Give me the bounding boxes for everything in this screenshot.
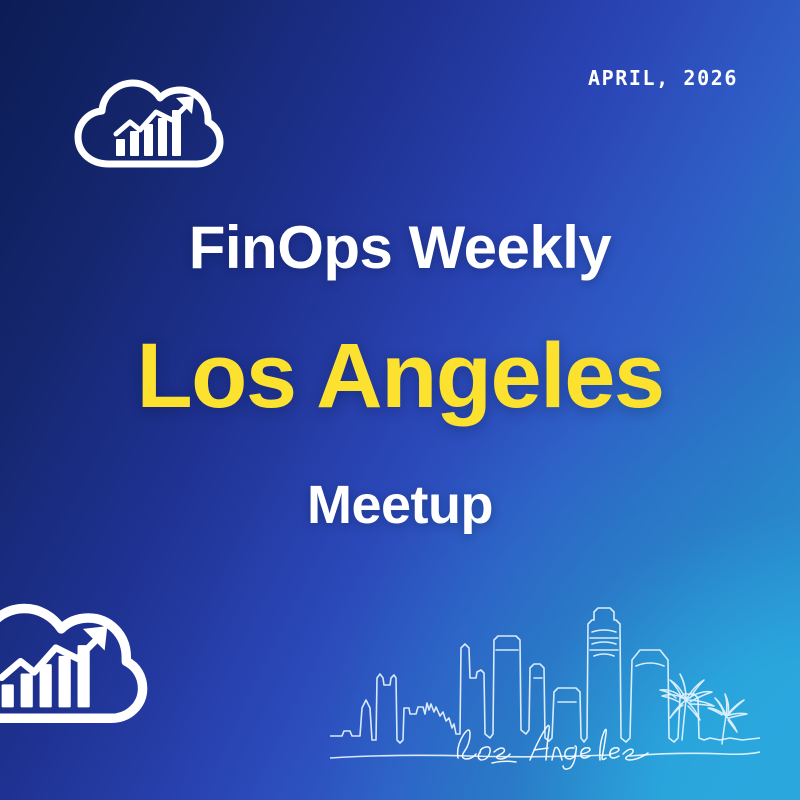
cloud-chart-icon [72,62,224,180]
event-poster: APRIL, 2026 FinOps Weekly Los Angeles Me… [0,0,800,800]
city-headline: Los Angeles [0,278,800,422]
cloud-chart-icon [0,580,148,740]
logo-top-cloud-chart [72,62,224,180]
los-angeles-script-icon [452,722,682,772]
event-type-subtitle: Meetup [0,422,800,532]
page-title: FinOps Weekly [0,218,800,278]
event-date: APRIL, 2026 [588,66,738,90]
poster-text-stack: FinOps Weekly Los Angeles Meetup [0,218,800,532]
skyline-script-label [452,722,682,772]
logo-bottom-cloud-chart [0,580,148,740]
